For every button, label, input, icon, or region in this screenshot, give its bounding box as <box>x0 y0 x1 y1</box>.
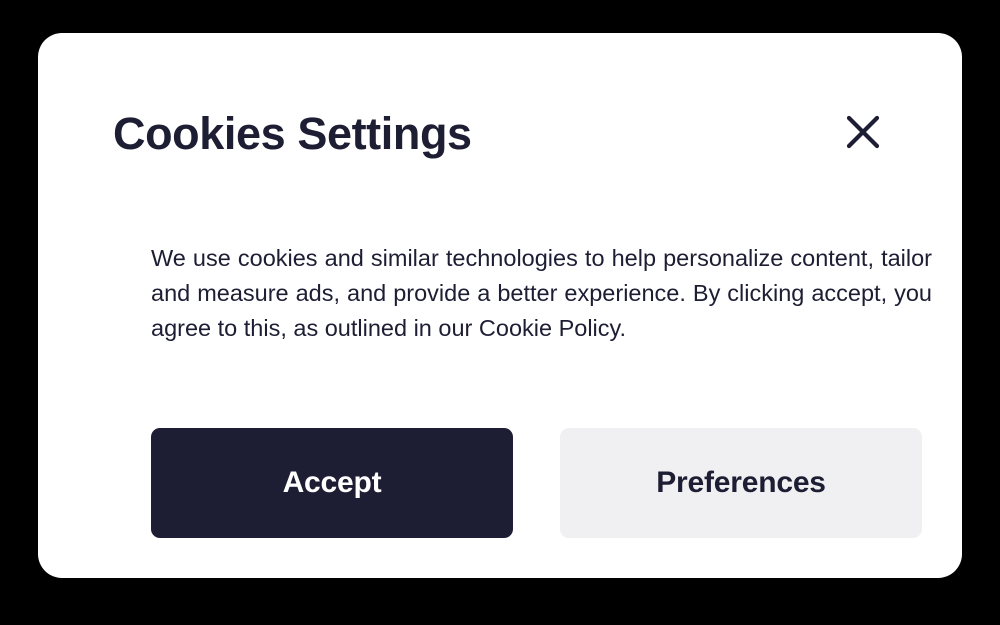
cookies-settings-dialog: Cookies Settings We use cookies and simi… <box>38 33 962 578</box>
preferences-button[interactable]: Preferences <box>560 428 922 538</box>
dialog-description: We use cookies and similar technologies … <box>151 241 932 346</box>
dialog-header: Cookies Settings <box>113 103 887 165</box>
screen-background: Cookies Settings We use cookies and simi… <box>0 0 1000 625</box>
page-title: Cookies Settings <box>113 103 472 165</box>
dialog-actions: Accept Preferences <box>151 428 922 538</box>
accept-button[interactable]: Accept <box>151 428 513 538</box>
close-x-icon <box>843 112 883 152</box>
close-button[interactable] <box>839 108 887 156</box>
